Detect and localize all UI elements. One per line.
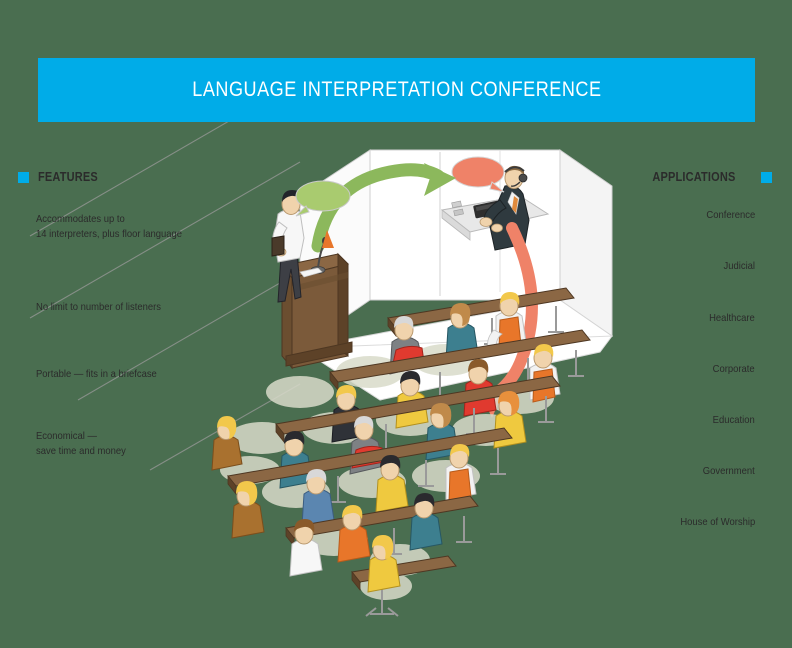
application-item-corporate: Corporate <box>713 363 755 375</box>
feature-item-3-line1: Portable — fits in a briefcase <box>36 368 157 380</box>
feature-item-2-line1: No limit to number of listeners <box>36 301 161 313</box>
features-bullet-square <box>18 172 29 183</box>
application-item-house-of-worship: House of Worship <box>680 516 755 528</box>
audience-member <box>446 444 476 502</box>
audience-member <box>212 416 242 470</box>
page-title: LANGUAGE INTERPRETATION CONFERENCE <box>192 78 601 102</box>
infographic-canvas: LANGUAGE INTERPRETATION CONFERENCE FEATU… <box>0 0 792 648</box>
feature-item-3: Portable — fits in a briefcase <box>36 367 157 382</box>
audience-member <box>368 535 400 592</box>
audience-member <box>302 469 334 526</box>
feature-item-2: No limit to number of listeners <box>36 300 161 315</box>
features-heading: FEATURES <box>38 170 98 184</box>
applications-bullet-square <box>761 172 772 183</box>
feature-item-4-line2: save time and money <box>36 444 126 459</box>
feature-item-4: Economical — save time and money <box>36 429 126 459</box>
application-item-conference: Conference <box>706 209 755 221</box>
feature-item-1-line1: Accommodates up to <box>36 213 125 225</box>
audience-member <box>232 481 264 538</box>
application-item-government: Government <box>703 465 755 477</box>
feature-item-1-line2: 14 interpreters, plus floor language <box>36 227 182 242</box>
application-item-education: Education <box>713 414 755 426</box>
feature-item-1: Accommodates up to 14 interpreters, plus… <box>36 212 182 242</box>
applications-heading: APPLICATIONS <box>653 170 736 184</box>
title-banner: LANGUAGE INTERPRETATION CONFERENCE <box>38 58 755 122</box>
feature-item-4-line1: Economical — <box>36 430 97 442</box>
audience-member <box>376 455 408 512</box>
audience-member <box>338 505 370 562</box>
application-item-judicial: Judicial <box>723 260 755 272</box>
application-item-healthcare: Healthcare <box>709 312 755 324</box>
